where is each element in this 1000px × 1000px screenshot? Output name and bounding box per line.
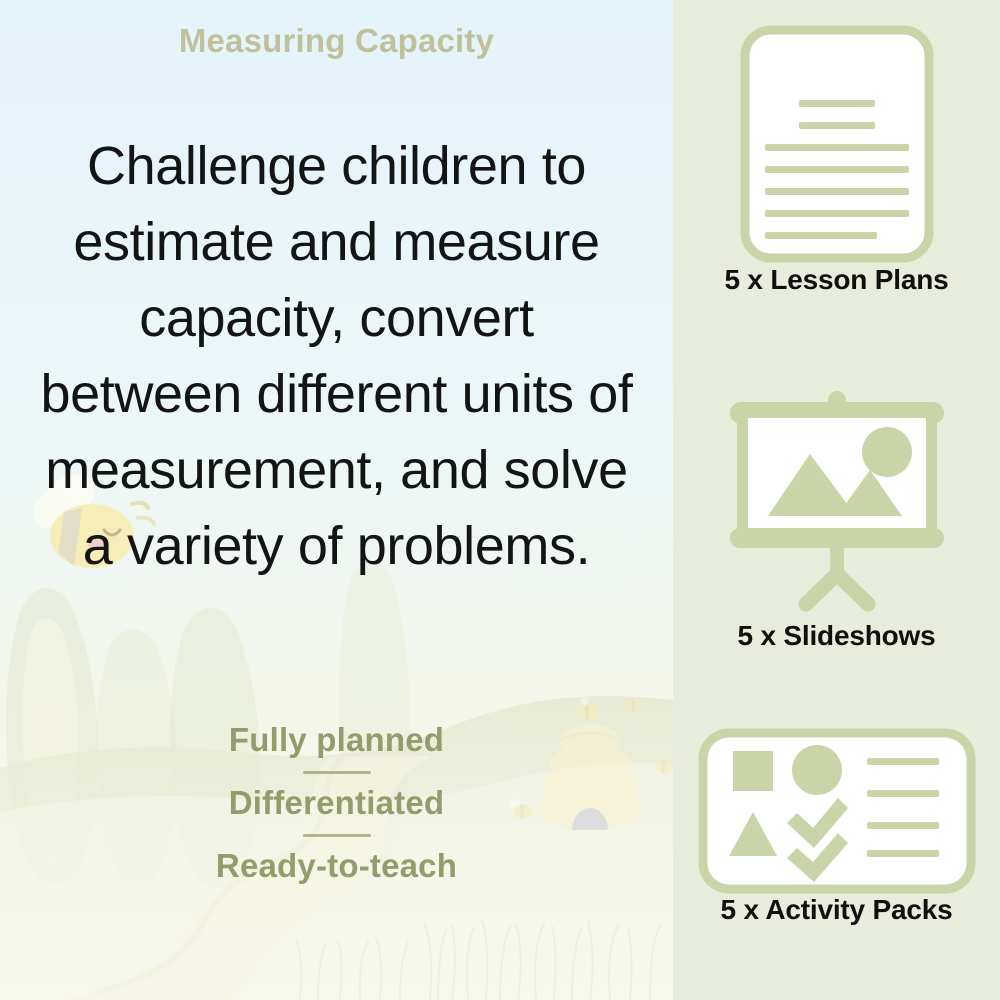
feature-list: Fully planned Differentiated Ready-to-te… [0, 722, 673, 885]
feature-item-1: Fully planned [0, 722, 673, 759]
asset-lesson-plans: 5 x Lesson Plans [673, 24, 1000, 296]
poster-canvas: Measuring Capacity Challenge children to… [0, 0, 1000, 1000]
left-content: Measuring Capacity Challenge children to… [0, 0, 673, 1000]
asset-label-lesson-plans: 5 x Lesson Plans [724, 264, 948, 296]
feature-divider [303, 771, 371, 774]
assets-panel: 5 x Lesson Plans [673, 0, 1000, 1000]
feature-divider [303, 834, 371, 837]
feature-item-2: Differentiated [0, 785, 673, 822]
activity-card-icon [697, 728, 977, 894]
document-icon [737, 24, 937, 264]
asset-label-slideshows: 5 x Slideshows [738, 620, 936, 652]
feature-item-3: Ready-to-teach [0, 848, 673, 885]
eyebrow-title: Measuring Capacity [0, 22, 673, 60]
asset-activity-packs: 5 x Activity Packs [673, 728, 1000, 926]
projector-screen-icon [706, 388, 968, 620]
asset-label-activity-packs: 5 x Activity Packs [721, 894, 953, 926]
body-copy: Challenge children to estimate and measu… [36, 128, 637, 584]
left-panel: Measuring Capacity Challenge children to… [0, 0, 673, 1000]
asset-slideshows: 5 x Slideshows [673, 388, 1000, 652]
